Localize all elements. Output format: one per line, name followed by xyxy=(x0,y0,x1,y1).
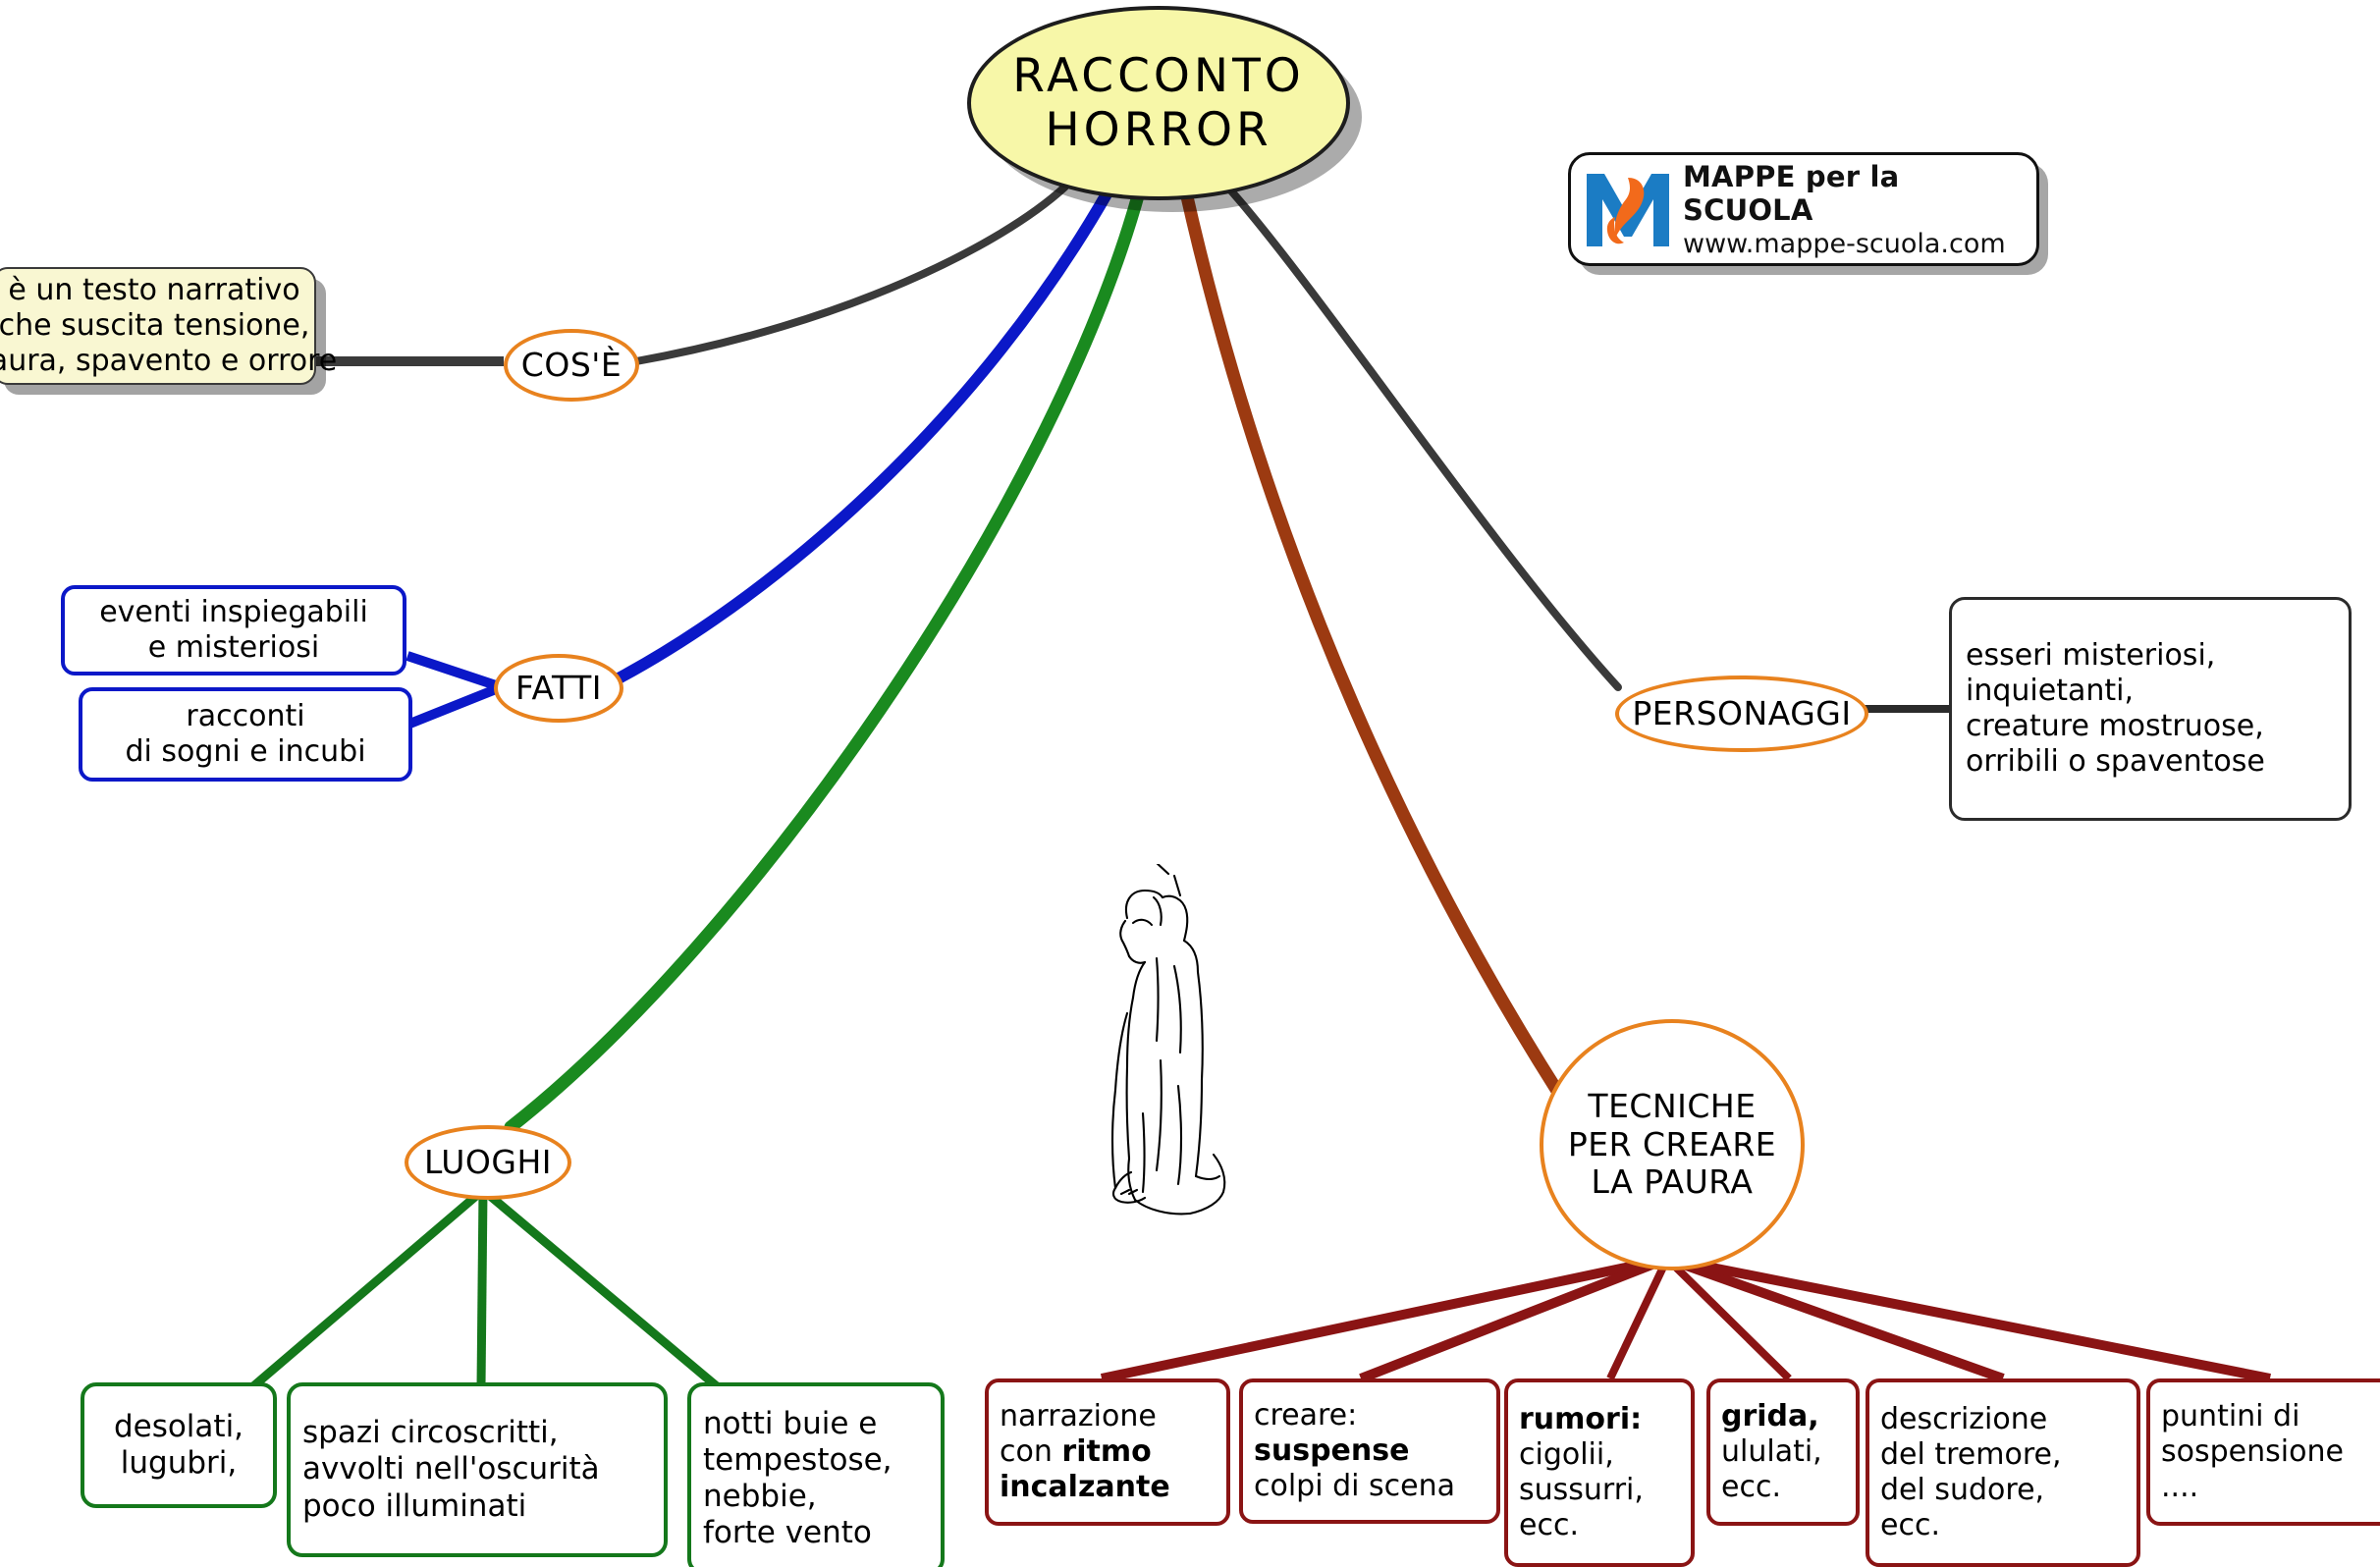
leaf-node-tecniche-descrizione[interactable]: descrizione del tremore, del sudore, ecc… xyxy=(1866,1378,2140,1567)
leaf-line: con ritmo xyxy=(1000,1434,1216,1470)
leaf-line: avvolti nell'oscurità xyxy=(302,1451,652,1487)
leaf-line: colpi di scena xyxy=(1254,1469,1486,1504)
key-node-cose[interactable]: COS'È xyxy=(504,329,639,402)
leaf-line: cigolii, xyxy=(1519,1437,1680,1473)
leaf-line: notti buie e xyxy=(703,1406,929,1442)
key-node-personaggi-label: PERSONAGGI xyxy=(1632,695,1851,733)
hooded-figure-with-staff-illustration xyxy=(1100,864,1355,1276)
leaf-line: nebbie, xyxy=(703,1479,929,1515)
leaf-line: paura, spavento e orrore xyxy=(0,344,337,379)
leaf-line: lugubri, xyxy=(121,1445,237,1482)
leaf-line: desolati, xyxy=(114,1409,243,1445)
key-node-personaggi[interactable]: PERSONAGGI xyxy=(1615,675,1868,752)
leaf-line: è un testo narrativo xyxy=(8,273,299,308)
leaf-line: eventi inspiegabili xyxy=(99,595,368,630)
leaf-node-personaggi-esseri[interactable]: esseri misteriosi, inquietanti, creature… xyxy=(1949,597,2352,821)
leaf-node-luoghi-notti[interactable]: notti buie e tempestose, nebbie, forte v… xyxy=(687,1382,945,1567)
key-node-tecniche-label-3: LA PAURA xyxy=(1592,1163,1754,1202)
leaf-line: .... xyxy=(2161,1470,2380,1505)
leaf-line: tempestose, xyxy=(703,1442,929,1479)
key-node-tecniche-label-2: PER CREARE xyxy=(1568,1126,1776,1164)
leaf-node-cose-definizione[interactable]: è un testo narrativo che suscita tension… xyxy=(0,267,316,385)
key-node-luoghi[interactable]: LUOGHI xyxy=(405,1125,571,1200)
root-title-line-2: HORROR xyxy=(1045,103,1271,157)
leaf-line: sussurri, xyxy=(1519,1473,1680,1508)
key-node-tecniche-label-1: TECNICHE xyxy=(1588,1088,1756,1126)
key-node-tecniche-per-creare-la-paura[interactable]: TECNICHE PER CREARE LA PAURA xyxy=(1540,1019,1805,1270)
leaf-line: del sudore, xyxy=(1880,1473,2126,1508)
leaf-node-tecniche-narrazione[interactable]: narrazione con ritmo incalzante xyxy=(985,1378,1230,1526)
site-logo-badge[interactable]: MAPPE per la SCUOLA www.mappe-scuola.com xyxy=(1568,152,2039,266)
logo-url: www.mappe-scuola.com xyxy=(1683,229,2036,259)
leaf-line: suspense xyxy=(1254,1433,1486,1469)
leaf-line: rumori: xyxy=(1519,1402,1680,1437)
key-node-cose-label: COS'È xyxy=(521,347,622,385)
leaf-line: ecc. xyxy=(1880,1508,2126,1543)
leaf-line: creare: xyxy=(1254,1398,1486,1433)
root-node-racconto-horror[interactable]: RACCONTO HORROR xyxy=(967,6,1350,200)
leaf-node-tecniche-puntini[interactable]: puntini di sospensione .... xyxy=(2146,1378,2380,1526)
root-title-line-1: RACCONTO xyxy=(1012,49,1305,103)
leaf-node-tecniche-grida[interactable]: grida, ululati, ecc. xyxy=(1706,1378,1860,1526)
leaf-line: ululati, xyxy=(1721,1434,1845,1470)
leaf-line: ecc. xyxy=(1721,1470,1845,1505)
key-node-luoghi-label: LUOGHI xyxy=(424,1144,552,1182)
leaf-line: forte vento xyxy=(703,1515,929,1551)
leaf-node-tecniche-suspense[interactable]: creare: suspense colpi di scena xyxy=(1239,1378,1500,1524)
key-node-fatti[interactable]: FATTI xyxy=(494,654,623,723)
leaf-node-fatti-sogni[interactable]: racconti di sogni e incubi xyxy=(79,687,412,782)
leaf-line: orribili o spaventose xyxy=(1966,744,2265,780)
leaf-line: descrizione xyxy=(1880,1402,2126,1437)
leaf-line: e misteriosi xyxy=(148,630,319,666)
leaf-line: spazi circoscritti, xyxy=(302,1415,652,1451)
leaf-line: poco illuminati xyxy=(302,1488,652,1525)
leaf-line: che suscita tensione, xyxy=(0,308,309,344)
leaf-node-tecniche-rumori[interactable]: rumori: cigolii, sussurri, ecc. xyxy=(1504,1378,1695,1567)
leaf-node-fatti-eventi[interactable]: eventi inspiegabili e misteriosi xyxy=(61,585,406,675)
mappe-scuola-m-logo-icon xyxy=(1583,168,1673,250)
leaf-line: ecc. xyxy=(1519,1508,1680,1543)
leaf-line: narrazione xyxy=(1000,1399,1216,1434)
leaf-line: inquietanti, xyxy=(1966,674,2134,709)
leaf-node-luoghi-spazi[interactable]: spazi circoscritti, avvolti nell'oscurit… xyxy=(287,1382,668,1557)
leaf-line: creature mostruose, xyxy=(1966,709,2264,744)
leaf-line: sospensione xyxy=(2161,1434,2380,1470)
leaf-line: puntini di xyxy=(2161,1399,2380,1434)
leaf-line: esseri misteriosi, xyxy=(1966,638,2215,674)
leaf-line: di sogni e incubi xyxy=(125,734,365,770)
key-node-fatti-label: FATTI xyxy=(515,670,602,708)
leaf-line: incalzante xyxy=(1000,1470,1216,1505)
leaf-node-luoghi-desolati[interactable]: desolati, lugubri, xyxy=(81,1382,277,1508)
logo-title: MAPPE per la SCUOLA xyxy=(1683,160,2036,227)
leaf-line: grida, xyxy=(1721,1399,1845,1434)
leaf-line: racconti xyxy=(186,699,304,734)
concept-map-canvas: RACCONTO HORROR MAPPE per la SCUOLA www.… xyxy=(0,0,2380,1567)
leaf-line: del tremore, xyxy=(1880,1437,2126,1473)
